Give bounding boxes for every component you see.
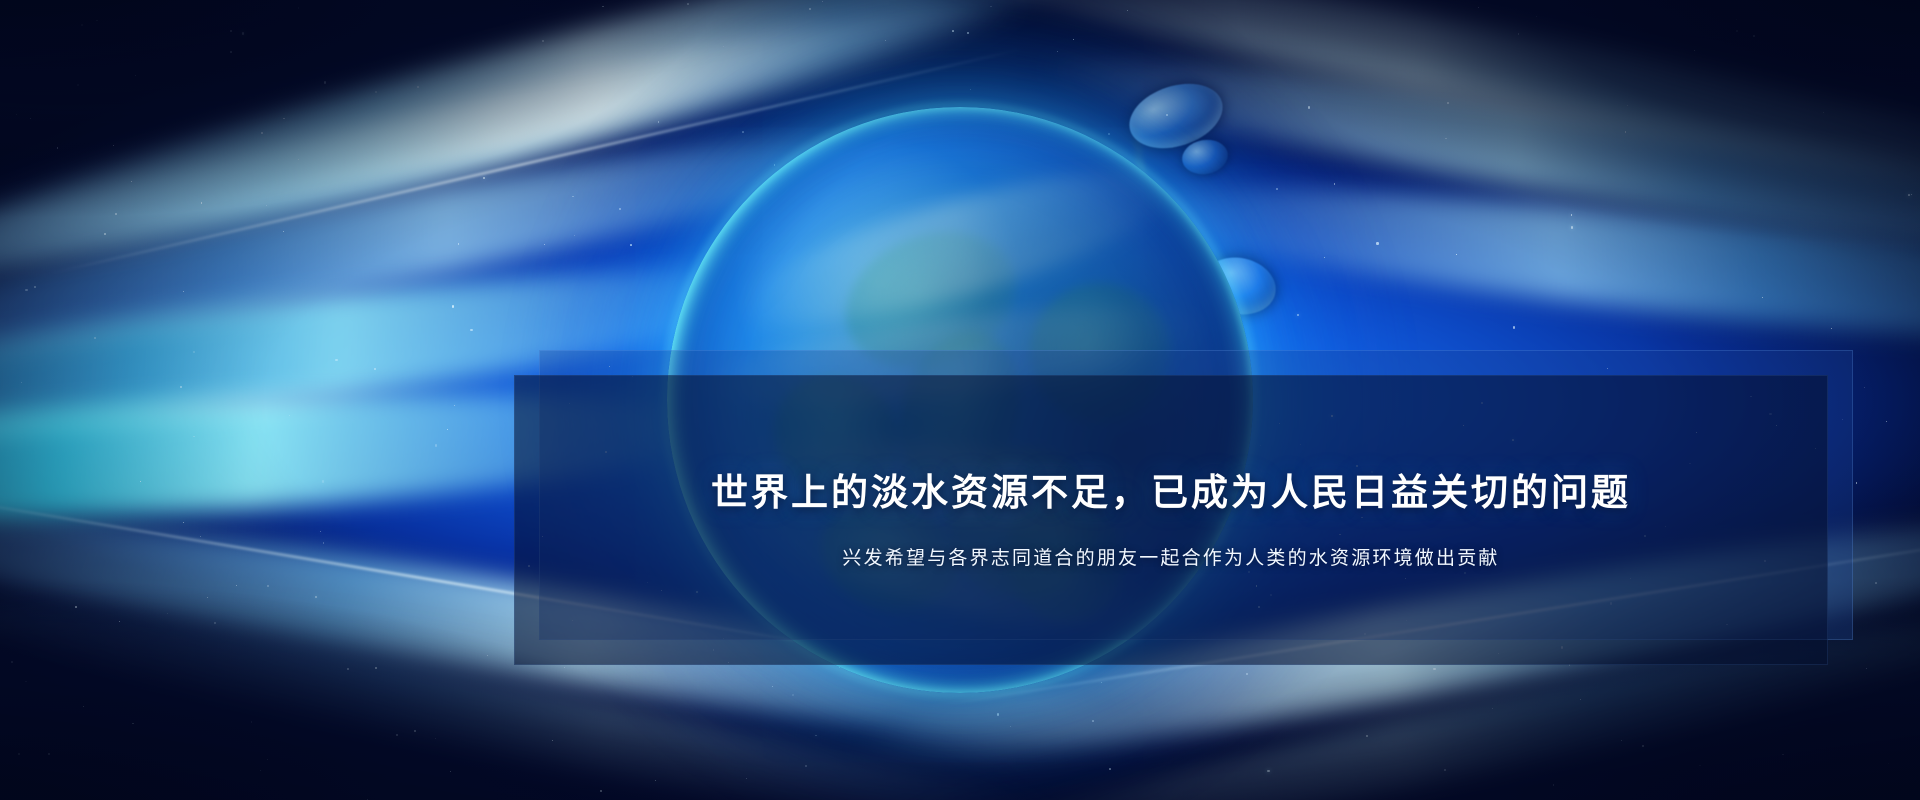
text-panel: 世界上的淡水资源不足，已成为人民日益关切的问题 兴发希望与各界志同道合的朋友一起… bbox=[514, 375, 1828, 665]
banner-subline: 兴发希望与各界志同道合的朋友一起合作为人类的水资源环境做出贡献 bbox=[842, 544, 1499, 573]
banner-headline: 世界上的淡水资源不足，已成为人民日益关切的问题 bbox=[711, 468, 1631, 518]
hero-banner: 世界上的淡水资源不足，已成为人民日益关切的问题 兴发希望与各界志同道合的朋友一起… bbox=[0, 0, 1920, 800]
